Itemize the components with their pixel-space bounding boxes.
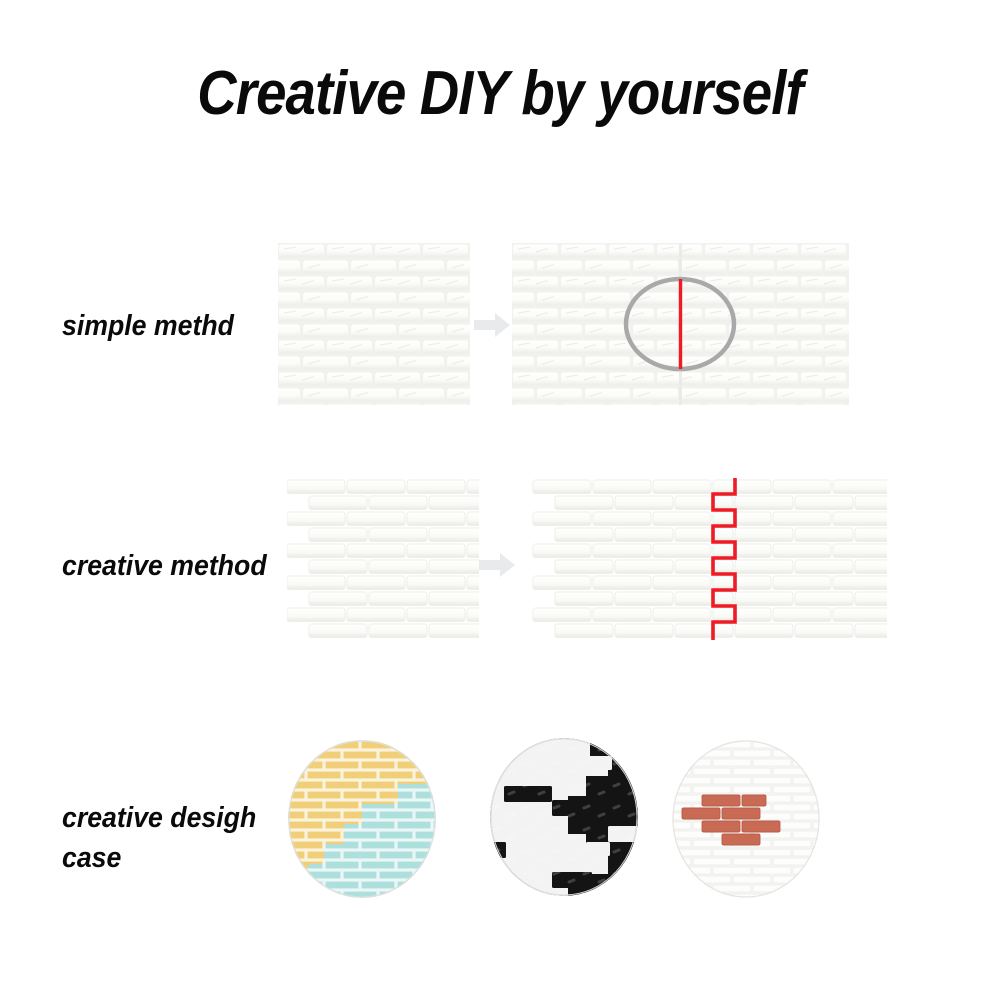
row-label-simple-method: simple methd xyxy=(62,306,234,346)
page-title: Creative DIY by yourself xyxy=(60,58,940,129)
design-case-black-white xyxy=(490,738,638,896)
yellow-blue-diagonal-svg xyxy=(288,740,436,898)
design-case-yellow-blue xyxy=(288,740,436,898)
design-case-white-red-cross xyxy=(672,740,820,898)
plain-brick-panel-svg xyxy=(278,243,470,405)
creative-method-before-panel xyxy=(287,478,479,640)
arrow-right-icon xyxy=(477,549,517,581)
simple-method-before-panel xyxy=(278,243,470,405)
staggered-brick-panel-svg xyxy=(287,478,479,640)
white-red-cross-svg xyxy=(672,740,820,898)
creative-method-after-panel xyxy=(525,478,887,640)
black-white-pixel-svg xyxy=(490,738,638,896)
row-label-creative-design-case: creative desigh case xyxy=(62,798,256,878)
two-panels-straight-seam-svg xyxy=(512,243,849,405)
simple-method-after-panel xyxy=(512,243,849,405)
arrow-right-icon xyxy=(472,309,512,341)
row-label-creative-method: creative method xyxy=(62,546,267,586)
two-panels-interlocking-seam-svg xyxy=(525,478,887,640)
